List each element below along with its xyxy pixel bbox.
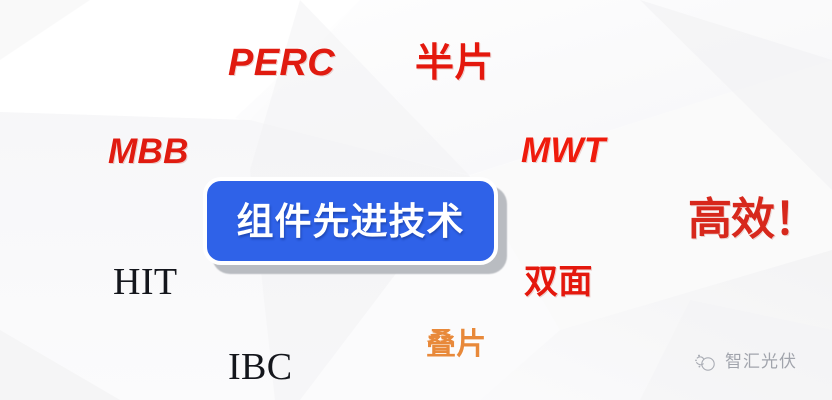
- keyword-shingled: 叠片: [426, 330, 487, 360]
- center-badge[interactable]: 组件先进技术: [203, 177, 498, 265]
- center-badge-group: 组件先进技术: [203, 177, 498, 265]
- keyword-mwt: MWT: [521, 133, 606, 168]
- circular-leaf-logo-icon: [694, 352, 718, 372]
- watermark-text: 智汇光伏: [725, 354, 797, 371]
- keyword-bifacial: 双面: [524, 265, 593, 299]
- keyword-half-cell: 半片: [415, 44, 494, 83]
- keyword-mbb: MBB: [108, 134, 189, 169]
- keyword-ibc: IBC: [228, 348, 293, 386]
- slide-canvas: PERC 半片 MBB MWT 高效！ HIT IBC 双面 叠片 组件先进技术…: [0, 0, 832, 400]
- keyword-hit: HIT: [113, 263, 177, 301]
- keyword-high-efficiency: 高效！: [688, 198, 817, 242]
- center-badge-label: 组件先进技术: [237, 203, 465, 240]
- watermark: 智汇光伏: [694, 352, 797, 372]
- keyword-perc: PERC: [228, 44, 335, 82]
